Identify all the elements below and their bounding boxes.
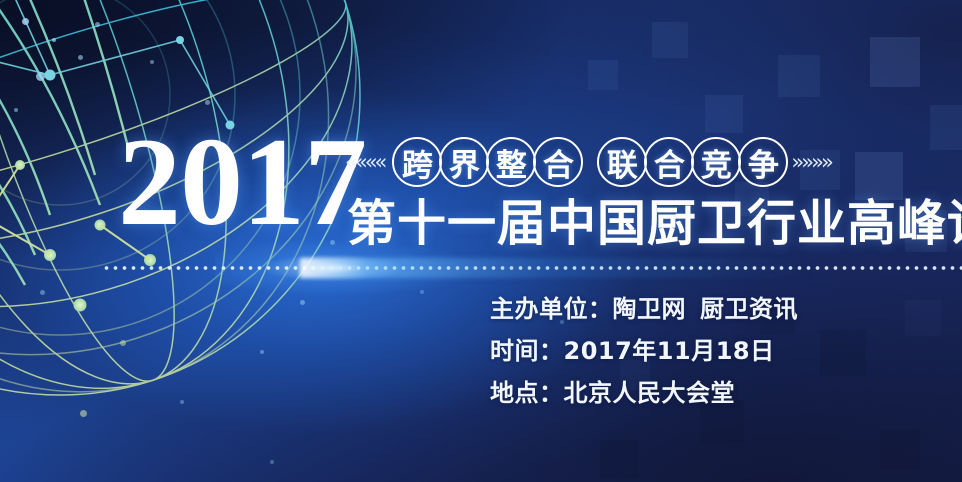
slogan-char-1: 跨: [392, 137, 442, 187]
main-title: 第十一届中国厨卫行业高峰论坛: [347, 196, 962, 251]
place-value: 北京人民大会堂: [564, 379, 736, 407]
time-label: 时间：: [490, 337, 564, 365]
slogan-char-4: 合: [533, 137, 583, 187]
time-line: 时间：2017年11月18日: [490, 330, 798, 372]
slogan-char-2: 界: [439, 137, 489, 187]
slogan-char-8: 争: [738, 137, 788, 187]
organizer-value-1: 陶卫网: [613, 295, 687, 323]
organizer-label: 主办单位：: [490, 295, 613, 323]
time-value: 2017年11月18日: [564, 337, 775, 365]
slogan-char-5: 联: [597, 137, 647, 187]
chevron-left-icon: ««««: [345, 152, 384, 173]
place-label: 地点：: [490, 379, 564, 407]
place-line: 地点：北京人民大会堂: [490, 372, 798, 414]
organizer-value-2: 厨卫资讯: [700, 295, 798, 323]
slogan-row: «««« 跨 界 整 合 联 合 竞 争 »»»»: [345, 134, 831, 190]
slogan-char-7: 竞: [691, 137, 741, 187]
chevron-right-icon: »»»»: [791, 152, 830, 173]
slogan-char-6: 合: [644, 137, 694, 187]
year-heading: 2017: [118, 120, 366, 246]
organizer-line: 主办单位：陶卫网厨卫资讯: [490, 288, 798, 330]
slogan-char-3: 整: [486, 137, 536, 187]
event-details: 主办单位：陶卫网厨卫资讯 时间：2017年11月18日 地点：北京人民大会堂: [490, 288, 798, 414]
dotted-divider-line: [104, 265, 962, 271]
conference-banner: 2017 «««« 跨 界 整 合 联 合 竞 争 »»»» 第十一届中国厨卫行…: [0, 0, 962, 482]
